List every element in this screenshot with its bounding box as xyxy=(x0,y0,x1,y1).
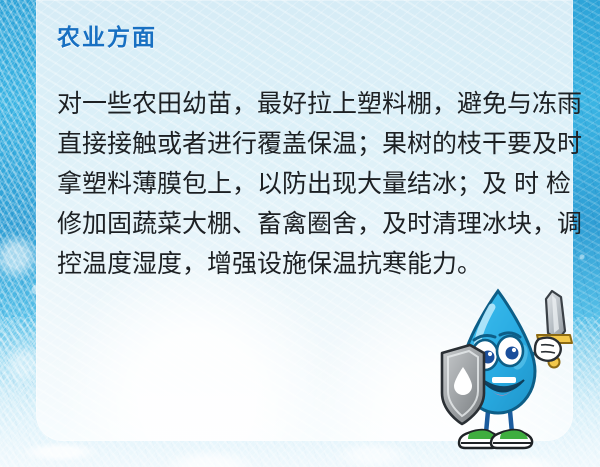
water-droplet-mascot xyxy=(440,283,590,455)
body-line: 对一些农田幼苗，最好拉上塑料棚，避免与冻雨 xyxy=(57,84,553,124)
body-line: 拿塑料薄膜包上，以防出现大量结冰； 及 时 检 xyxy=(57,164,549,204)
shield-icon xyxy=(442,345,484,424)
body-line-part: 及 时 检 xyxy=(482,164,571,204)
section-title: 农业方面 xyxy=(57,18,157,52)
body-paragraph: 对一些农田幼苗，最好拉上塑料棚，避免与冻雨 直接接触或者进行覆盖保温；果树的枝干… xyxy=(57,84,553,284)
mascot-glove xyxy=(535,338,561,361)
body-line-part: 拿塑料薄膜包上，以防出现大量结冰； xyxy=(57,164,482,204)
poster-canvas: 农业方面 对一些农田幼苗，最好拉上塑料棚，避免与冻雨 直接接触或者进行覆盖保温；… xyxy=(0,0,600,467)
mascot-shoes xyxy=(459,430,532,448)
body-line: 修加固蔬菜大棚、畜禽圈舍，及时清理冰块，调 xyxy=(57,204,553,244)
body-line: 控温度湿度，增强设施保温抗寒能力。 xyxy=(57,244,553,284)
body-line: 直接接触或者进行覆盖保温；果树的枝干要及时 xyxy=(57,124,553,164)
